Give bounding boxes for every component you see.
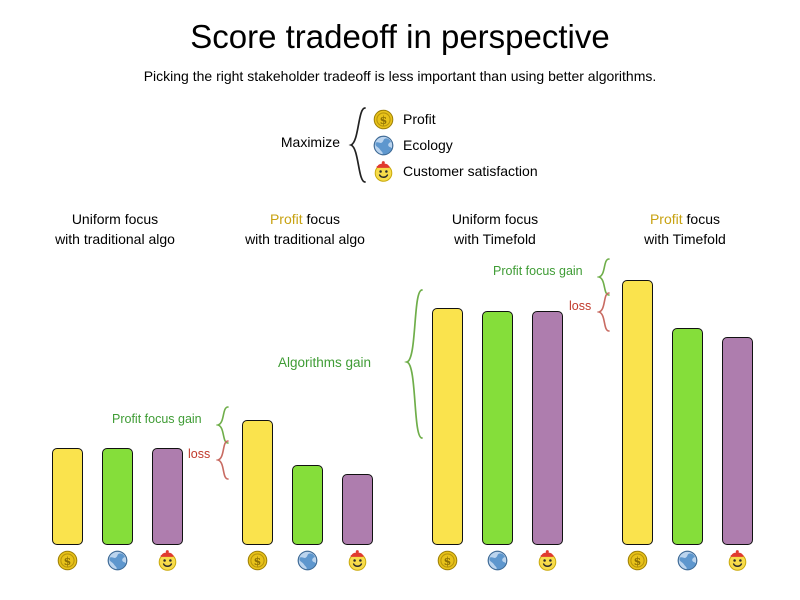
annotation-algorithms-gain-label: Algorithms gain — [278, 355, 371, 370]
globe-icon — [487, 550, 508, 571]
svg-text:$: $ — [444, 555, 452, 568]
bar-group-4-customer[interactable] — [722, 337, 753, 545]
smiley-cap-icon — [157, 550, 178, 571]
bar-group-1-ecology[interactable] — [102, 448, 133, 545]
bar-group-1-profit[interactable] — [52, 448, 83, 545]
smiley-cap-icon — [537, 550, 558, 571]
bar-group-1-customer[interactable] — [152, 448, 183, 545]
bar-group-3-profit[interactable] — [432, 308, 463, 545]
coin-dollar-icon: $ — [247, 550, 268, 571]
annotation-right-gain-label: Profit focus gain — [493, 264, 583, 278]
annotation-right-loss-label: loss — [569, 299, 591, 313]
annotation-algorithms-gain-brace-icon — [404, 288, 426, 445]
globe-icon — [107, 550, 128, 571]
svg-text:$: $ — [64, 555, 72, 568]
coin-dollar-icon: $ — [437, 550, 458, 571]
bar-group-4-ecology[interactable] — [672, 328, 703, 545]
bar-group-3-ecology[interactable] — [482, 311, 513, 545]
svg-text:$: $ — [634, 555, 642, 568]
globe-icon — [677, 550, 698, 571]
smiley-cap-icon — [347, 550, 368, 571]
coin-dollar-icon: $ — [57, 550, 78, 571]
bar-group-3-customer[interactable] — [532, 311, 563, 545]
globe-icon — [297, 550, 318, 571]
annotation-left-loss-label: loss — [188, 447, 210, 461]
bar-group-2-customer[interactable] — [342, 474, 373, 545]
svg-text:$: $ — [254, 555, 262, 568]
annotation-left-gain-label: Profit focus gain — [112, 412, 202, 426]
bar-group-2-profit[interactable] — [242, 420, 273, 545]
annotation-left-loss-brace-icon — [216, 440, 232, 485]
chart-canvas: Score tradeoff in perspective Picking th… — [0, 0, 800, 600]
bars-layer: $$$$ — [0, 0, 800, 600]
bar-group-2-ecology[interactable] — [292, 465, 323, 545]
bar-group-4-profit[interactable] — [622, 280, 653, 545]
annotation-right-loss-brace-icon — [597, 292, 613, 337]
smiley-cap-icon — [727, 550, 748, 571]
coin-dollar-icon: $ — [627, 550, 648, 571]
